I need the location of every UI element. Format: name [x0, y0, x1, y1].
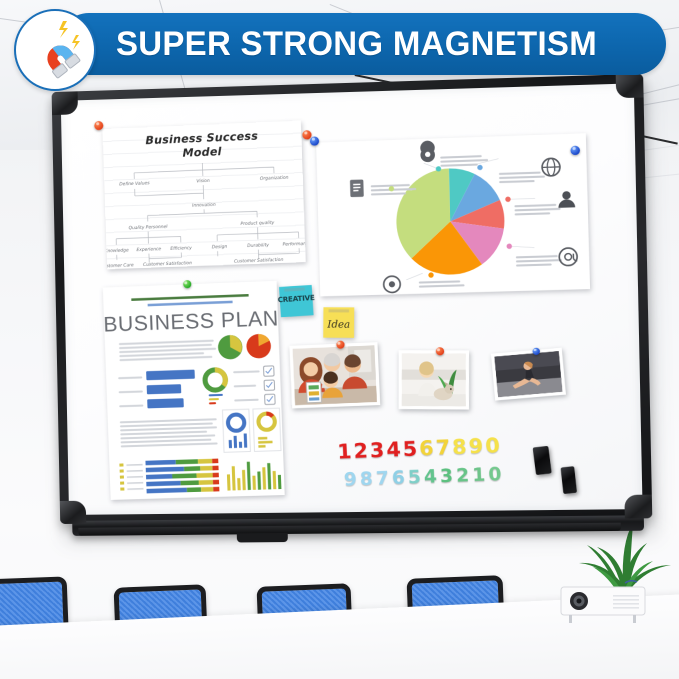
projector	[555, 579, 651, 627]
magnetic-number[interactable]: 9	[344, 471, 358, 490]
svg-text:Product quality: Product quality	[240, 220, 274, 227]
bar-magnet[interactable]	[561, 466, 577, 494]
svg-text:Customer Care: Customer Care	[104, 262, 134, 269]
board-frame: Business Success Model	[52, 74, 653, 524]
svg-text:Organization: Organization	[260, 175, 289, 182]
poster-business-plan[interactable]: BUSINESS PLAN	[103, 281, 285, 500]
magnetic-number[interactable]: 5	[402, 438, 417, 459]
poster-pie-chart[interactable]	[316, 133, 590, 296]
photo-fitness[interactable]	[491, 348, 566, 401]
tape-strip	[284, 287, 305, 291]
business-plan-title: BUSINESS PLAN	[103, 307, 279, 337]
svg-text:Vision: Vision	[196, 178, 210, 185]
svg-text:Knowledge: Knowledge	[104, 247, 129, 254]
frame-corner-bottom-left	[60, 501, 86, 524]
bsm-diagram: Define Values Vision Organization Innova…	[104, 157, 306, 269]
magnetic-number[interactable]: 3	[369, 440, 384, 461]
magnet-dot-red[interactable]	[436, 347, 444, 355]
magnet-dot-red[interactable]	[94, 121, 103, 130]
magnetic-number[interactable]: 2	[353, 440, 368, 461]
pie-chart-graphic	[316, 133, 590, 296]
magnetic-numbers-top-row[interactable]: 1234567890	[337, 435, 503, 462]
magnetic-number[interactable]: 9	[468, 435, 483, 456]
svg-text:Customer Satisfaction: Customer Satisfaction	[234, 257, 284, 265]
photo-family[interactable]	[289, 342, 380, 408]
frame-corner-bottom-right	[624, 495, 652, 519]
magnetic-number[interactable]: 2	[456, 467, 470, 486]
magnetic-number[interactable]: 5	[408, 469, 422, 488]
board-surface[interactable]: Business Success Model	[61, 83, 643, 515]
magnetic-number[interactable]: 4	[424, 468, 438, 487]
frame-corner-top-right	[616, 74, 644, 98]
horseshoe-magnet-icon	[16, 11, 90, 85]
target-icon	[383, 276, 400, 293]
magnet-badge	[14, 9, 96, 91]
svg-text:Design: Design	[212, 244, 228, 251]
svg-text:Durability: Durability	[247, 242, 269, 249]
at-sign-icon	[559, 248, 577, 266]
magnetic-number[interactable]: 7	[435, 437, 450, 458]
magnetic-number[interactable]: 4	[386, 439, 401, 460]
globe-icon	[542, 158, 560, 176]
svg-text:Experience: Experience	[136, 246, 161, 253]
business-plan-graphic: BUSINESS PLAN	[103, 281, 285, 500]
sticky-note-creative[interactable]: CREATIVE	[279, 285, 314, 317]
svg-text:Performance: Performance	[283, 241, 306, 248]
svg-text:Efficiency: Efficiency	[170, 245, 192, 252]
document-icon	[350, 180, 364, 198]
svg-text:Define Values: Define Values	[119, 180, 150, 187]
sticky-note-text: CREATIVE	[277, 294, 314, 304]
pen-tray-tab	[237, 533, 288, 543]
magnetic-numbers-bottom-row[interactable]: 9876543210	[344, 466, 505, 490]
magnetic-number[interactable]: 3	[440, 468, 454, 487]
photo-child-with-dog[interactable]	[399, 350, 470, 409]
sticky-note-idea[interactable]: Idea	[323, 307, 354, 338]
magnetic-number[interactable]: 0	[488, 466, 502, 485]
magnetic-number[interactable]: 6	[392, 469, 406, 488]
svg-text:Customer Satisfaction: Customer Satisfaction	[143, 260, 192, 268]
banner-title: SUPER STRONG MAGNETISM	[116, 25, 597, 64]
location-pin-icon	[420, 140, 435, 167]
fitness-photo-image	[494, 351, 562, 397]
magnetic-number[interactable]: 0	[485, 435, 500, 456]
magnetic-whiteboard[interactable]: Business Success Model	[52, 74, 653, 532]
magnetic-number[interactable]: 8	[360, 470, 374, 489]
poster-business-success-model[interactable]: Business Success Model	[102, 120, 305, 269]
family-photo-image	[292, 345, 377, 405]
magnetic-number[interactable]: 8	[452, 436, 467, 457]
magnetic-number[interactable]: 1	[472, 466, 486, 485]
svg-text:Innovation: Innovation	[192, 202, 216, 209]
bar-magnet[interactable]	[533, 446, 552, 475]
person-icon	[558, 191, 575, 208]
svg-text:Quality Personnel: Quality Personnel	[129, 224, 169, 232]
child-dog-photo-image	[402, 353, 466, 406]
product-marketing-image: SUPER STRONG MAGNETISM	[0, 0, 679, 679]
sticky-note-text: Idea	[327, 319, 350, 330]
magnetic-number[interactable]: 1	[337, 441, 352, 462]
promo-banner: SUPER STRONG MAGNETISM	[58, 13, 666, 75]
magnetic-number[interactable]: 6	[419, 437, 434, 458]
magnetic-number[interactable]: 7	[376, 470, 390, 489]
tape-strip	[329, 309, 350, 312]
